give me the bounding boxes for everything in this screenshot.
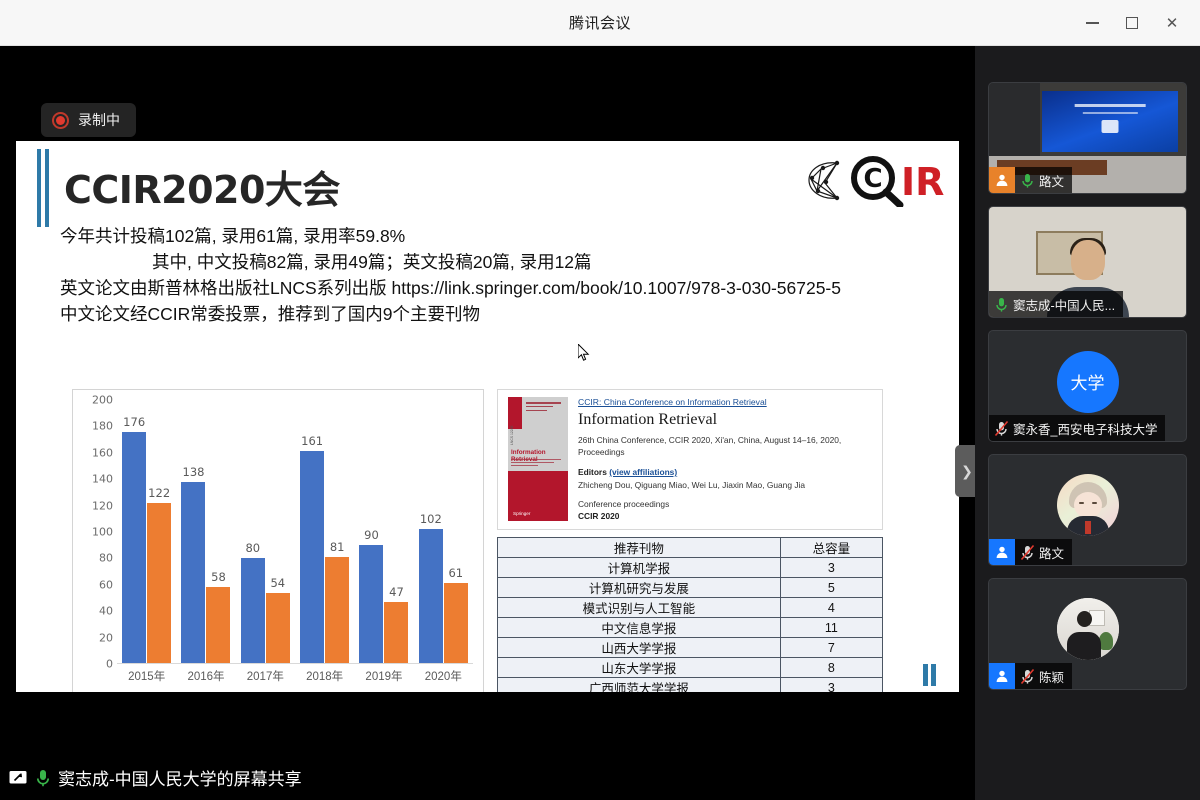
participant-tile[interactable]: 窦志成-中国人民...: [988, 206, 1187, 318]
chart-plot-area: 17612213858805416181904710261: [117, 400, 473, 664]
bar-group: 9047: [354, 400, 413, 664]
minimize-icon: [1086, 22, 1099, 24]
y-tick-label: 160: [92, 446, 113, 459]
bar-录用: 81: [325, 557, 349, 664]
maximize-icon: [1126, 17, 1138, 29]
chart-x-axis-line: [117, 663, 473, 664]
participant-nameplate: 窦永香_西安电子科技大学: [989, 415, 1165, 441]
bar-value-label: 122: [148, 486, 170, 500]
y-tick-label: 120: [92, 499, 113, 512]
mouse-cursor-icon: [578, 344, 590, 362]
proceedings-label: Conference proceedings: [578, 499, 872, 509]
slide-line-1: 今年共计投稿102篇, 录用61篇, 录用率59.8%: [60, 223, 940, 249]
cell-capacity: 11: [780, 618, 882, 638]
table-row: 山西大学学报7: [498, 638, 883, 658]
bar-投稿: 102: [419, 529, 443, 664]
bar-value-label: 161: [301, 434, 323, 448]
y-tick-label: 40: [99, 605, 113, 618]
chart-x-axis-labels: 2015年2016年2017年2018年2019年2020年: [117, 668, 473, 684]
slide-footer-accent-bars: [923, 664, 937, 686]
bar-group: 13858: [176, 400, 235, 664]
bar-录用: 47: [384, 602, 408, 664]
participant-tile[interactable]: 陈颖: [988, 578, 1187, 690]
bar-value-label: 176: [123, 415, 145, 429]
participant-name: 陈颖: [1039, 667, 1064, 686]
cell-journal-name: 中文信息学报: [498, 618, 781, 638]
springer-logo: Springer: [513, 511, 530, 516]
participant-name: 路文: [1039, 171, 1064, 190]
submissions-bar-chart: 020406080100120140160180200 176122138588…: [72, 389, 484, 692]
legend-item: 投稿: [236, 690, 271, 692]
x-tick-label: 2017年: [236, 668, 295, 684]
participant-nameplate: 陈颖: [989, 663, 1072, 689]
screen-share-status-bar: 窦志成-中国人民大学的屏幕共享: [0, 755, 975, 800]
participant-tile[interactable]: 路文: [988, 454, 1187, 566]
microphone-muted-icon: [1015, 544, 1039, 561]
app-title: 腾讯会议: [569, 12, 631, 33]
y-tick-label: 60: [99, 578, 113, 591]
tencent-meeting-window: 腾讯会议 ✕ 录制中 CCIR2020大会: [0, 0, 1200, 800]
microphone-icon: [1015, 172, 1039, 189]
bar-value-label: 81: [330, 540, 345, 554]
conference-code: CCIR 2020: [578, 511, 872, 521]
participant-name: 路文: [1039, 543, 1064, 562]
microphone-muted-icon: [989, 420, 1013, 437]
book-breadcrumb-link[interactable]: CCIR: China Conference on Information Re…: [578, 397, 872, 407]
participant-name: 窦志成-中国人民...: [1013, 295, 1115, 314]
svg-text:C: C: [863, 164, 882, 194]
cell-journal-name: 计算机学报: [498, 558, 781, 578]
recording-label: 录制中: [78, 110, 120, 130]
microphone-icon: [34, 768, 52, 788]
bar-value-label: 138: [183, 465, 205, 479]
table-row: 计算机学报3: [498, 558, 883, 578]
participant-nameplate: 路文: [989, 167, 1072, 193]
editors-names: Zhicheng Dou, Qiguang Miao, Wei Lu, Jiax…: [578, 480, 872, 490]
x-tick-label: 2019年: [354, 668, 413, 684]
cell-capacity: 4: [780, 598, 882, 618]
y-tick-label: 180: [92, 420, 113, 433]
springer-book-card: LNCS 12285 Information Retrieval Springe…: [497, 389, 883, 530]
table-row: 广西师范大学学报3: [498, 678, 883, 693]
bar-投稿: 80: [241, 558, 265, 664]
x-tick-label: 2016年: [176, 668, 235, 684]
slide-title: CCIR2020大会: [64, 159, 340, 214]
editors-label: Editors: [578, 467, 607, 477]
slide-line-3: 英文论文由斯普林格出版社LNCS系列出版 https://link.spring…: [60, 275, 940, 301]
cell-capacity: 5: [780, 578, 882, 598]
participant-nameplate: 窦志成-中国人民...: [989, 291, 1123, 317]
y-tick-label: 0: [106, 658, 113, 671]
slide-body-text: 今年共计投稿102篇, 录用61篇, 录用率59.8% 其中, 中文投稿82篇,…: [60, 223, 940, 327]
participant-nameplate: 路文: [989, 539, 1072, 565]
y-tick-label: 100: [92, 526, 113, 539]
header-capacity: 总容量: [780, 538, 882, 558]
bar-group: 8054: [236, 400, 295, 664]
bar-录用: 61: [444, 583, 468, 664]
slide-line-2: 其中, 中文投稿82篇, 录用49篇；英文投稿20篇, 录用12篇: [60, 249, 940, 275]
slide-accent-bars: [36, 149, 50, 227]
ccir-logo-icon: C IR: [801, 153, 949, 207]
chart-bar-groups: 17612213858805416181904710261: [117, 400, 473, 664]
cell-capacity: 3: [780, 678, 882, 693]
chart-legend: 投稿录用: [73, 690, 483, 692]
presentation-slide: CCIR2020大会 C IR: [16, 141, 959, 692]
cell-capacity: 3: [780, 558, 882, 578]
microphone-muted-icon: [1015, 668, 1039, 685]
x-tick-label: 2020年: [414, 668, 473, 684]
legend-item: 录用: [285, 690, 320, 692]
bar-投稿: 90: [359, 545, 383, 664]
participant-name: 窦永香_西安电子科技大学: [1013, 419, 1157, 438]
recommended-journals-table: 推荐刊物 总容量 计算机学报3计算机研究与发展5模式识别与人工智能4中文信息学报…: [497, 537, 883, 692]
bar-录用: 58: [206, 587, 230, 664]
close-button[interactable]: ✕: [1152, 0, 1192, 46]
x-tick-label: 2018年: [295, 668, 354, 684]
x-tick-label: 2015年: [117, 668, 176, 684]
cell-journal-name: 山西大学学报: [498, 638, 781, 658]
table-header-row: 推荐刊物 总容量: [498, 538, 883, 558]
table-row: 山东大学学报8: [498, 658, 883, 678]
svg-text:IR: IR: [901, 160, 944, 204]
record-dot-icon: [52, 112, 69, 129]
y-tick-label: 20: [99, 631, 113, 644]
book-spine-text: LNCS 12285: [510, 426, 514, 445]
table-row: 计算机研究与发展5: [498, 578, 883, 598]
legend-label: 投稿: [248, 690, 271, 692]
cell-journal-name: 计算机研究与发展: [498, 578, 781, 598]
close-icon: ✕: [1166, 16, 1179, 31]
maximize-button[interactable]: [1112, 0, 1152, 46]
share-screen-icon: [8, 768, 28, 788]
table-row: 模式识别与人工智能4: [498, 598, 883, 618]
person-icon: [989, 539, 1015, 565]
bar-value-label: 90: [364, 528, 379, 542]
window-controls: ✕: [1072, 0, 1192, 46]
bar-投稿: 176: [122, 432, 146, 664]
bar-value-label: 58: [211, 570, 226, 584]
bar-value-label: 80: [245, 541, 260, 555]
cell-journal-name: 山东大学学报: [498, 658, 781, 678]
table-row: 中文信息学报11: [498, 618, 883, 638]
participant-panel: 路文窦志成-中国人民...大学窦永香_西安电子科技大学路文陈颖: [975, 46, 1200, 800]
bar-value-label: 61: [448, 566, 463, 580]
bar-group: 176122: [117, 400, 176, 664]
minimize-button[interactable]: [1072, 0, 1112, 46]
bar-value-label: 47: [389, 585, 404, 599]
bar-录用: 122: [147, 503, 171, 664]
header-journal: 推荐刊物: [498, 538, 781, 558]
bar-投稿: 161: [300, 451, 324, 664]
book-meta: 26th China Conference, CCIR 2020, Xi'an,…: [578, 434, 872, 458]
share-status-label: 窦志成-中国人民大学的屏幕共享: [58, 765, 302, 790]
y-tick-label: 140: [92, 473, 113, 486]
person-icon: [989, 663, 1015, 689]
table-body: 计算机学报3计算机研究与发展5模式识别与人工智能4中文信息学报11山西大学学报7…: [498, 558, 883, 693]
participant-tile[interactable]: 路文: [988, 82, 1187, 194]
bar-value-label: 102: [420, 512, 442, 526]
cell-capacity: 8: [780, 658, 882, 678]
window-title-bar: 腾讯会议 ✕: [0, 0, 1200, 46]
person-icon: [989, 167, 1015, 193]
bar-投稿: 138: [181, 482, 205, 664]
chart-y-axis-labels: 020406080100120140160180200: [79, 400, 113, 664]
y-tick-label: 80: [99, 552, 113, 565]
legend-label: 录用: [297, 690, 320, 692]
book-title: Information Retrieval: [578, 411, 872, 429]
book-cover-image: LNCS 12285 Information Retrieval Springe…: [508, 397, 568, 521]
chevron-right-icon: ❯: [961, 463, 973, 480]
y-tick-label: 200: [92, 394, 113, 407]
bar-value-label: 54: [270, 576, 285, 590]
university-avatar: 大学: [1057, 351, 1119, 413]
bar-录用: 54: [266, 593, 290, 664]
bar-group: 16181: [295, 400, 354, 664]
cell-journal-name: 广西师范大学学报: [498, 678, 781, 693]
recording-indicator: 录制中: [41, 103, 136, 137]
cell-capacity: 7: [780, 638, 882, 658]
participant-tile[interactable]: 大学窦永香_西安电子科技大学: [988, 330, 1187, 442]
cell-journal-name: 模式识别与人工智能: [498, 598, 781, 618]
slide-line-4: 中文论文经CCIR常委投票，推荐到了国内9个主要刊物: [60, 301, 940, 327]
microphone-icon: [989, 296, 1013, 313]
bar-group: 10261: [414, 400, 473, 664]
shared-screen-stage: 录制中 CCIR2020大会: [0, 46, 975, 755]
view-affiliations-link[interactable]: (view affiliations): [609, 467, 677, 477]
